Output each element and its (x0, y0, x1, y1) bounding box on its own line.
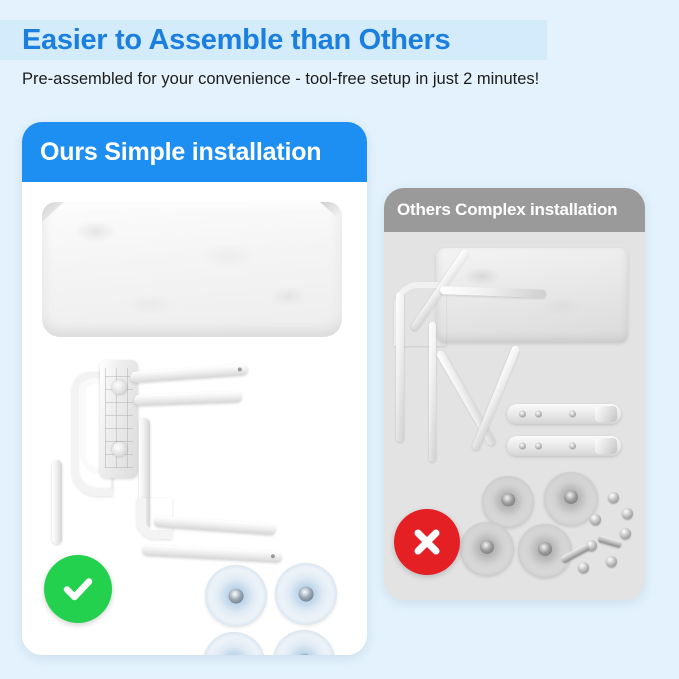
screw-3 (590, 514, 601, 525)
rack-arm-upper-2 (134, 391, 242, 406)
check-icon (44, 555, 112, 623)
bracket-plate-2-clip (595, 438, 617, 454)
rack-bracket-screw-bottom (112, 442, 127, 457)
bracket-plate-1-clip (595, 406, 617, 422)
screw-7 (578, 562, 589, 573)
page-subtitle: Pre-assembled for your convenience - too… (22, 68, 539, 90)
card-others-header-label: Others Complex installation (397, 200, 617, 220)
screw-1 (608, 492, 619, 503)
page-title: Easier to Assemble than Others (22, 22, 450, 58)
bracket-plate-1-hole-1 (519, 411, 526, 418)
bracket-plate-2-hole-2 (535, 443, 542, 450)
suction-cup-others-3 (460, 522, 514, 576)
card-others-header: Others Complex installation (384, 188, 645, 232)
bracket-plate-2-hole-1 (519, 443, 526, 450)
bracket-plate-2 (507, 436, 621, 456)
screw-2 (622, 508, 633, 519)
bracket-plate-2-hole-3 (569, 443, 576, 450)
bolt-1 (598, 535, 623, 548)
microfiber-towel-image (42, 202, 342, 337)
bracket-plate-1-hole-3 (569, 411, 576, 418)
rack-bracket-screw-top (112, 380, 127, 395)
rack-arm-lower-2 (142, 544, 282, 562)
suction-cup-others-1 (482, 476, 534, 528)
card-ours-header: Ours Simple installation (22, 122, 367, 182)
suction-cup-2 (275, 563, 337, 625)
suction-cup-others-4 (518, 524, 572, 578)
close-icon (394, 509, 460, 575)
rack-arm-lower-2-tip (271, 554, 275, 558)
rack-arm-upper-1 (130, 364, 248, 383)
screw-4 (620, 528, 631, 539)
suction-cup-3 (203, 632, 265, 655)
loose-rod-2 (429, 322, 436, 462)
rack-arm-lower-1 (154, 516, 276, 535)
loose-rod-1 (396, 292, 404, 442)
screw-6 (606, 556, 617, 567)
bracket-plate-1-hole-2 (535, 411, 542, 418)
loose-rod-4 (436, 349, 497, 447)
bracket-plate-1 (507, 404, 621, 424)
rack-side-rod (52, 460, 62, 544)
card-ours-header-label: Ours Simple installation (40, 138, 321, 167)
suction-cup-1 (205, 565, 267, 627)
rack-arm-upper-1-tip (238, 367, 242, 371)
page-header: Easier to Assemble than Others Pre-assem… (0, 0, 679, 105)
suction-cup-4 (273, 630, 335, 655)
